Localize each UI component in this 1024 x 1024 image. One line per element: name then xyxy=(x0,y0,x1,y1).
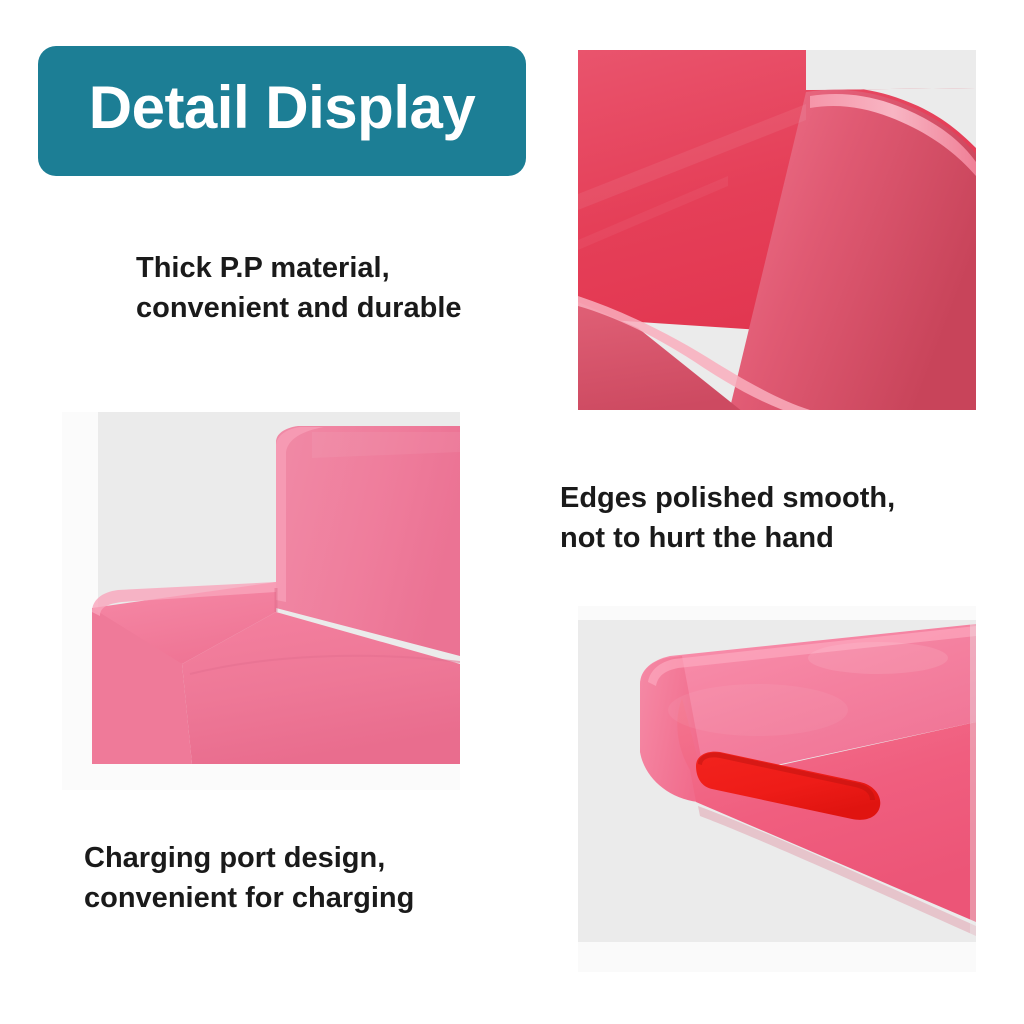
photo-box-side-profile xyxy=(62,412,460,790)
photo-box-interior-graphic xyxy=(578,44,976,416)
title-banner: Detail Display xyxy=(38,46,526,176)
caption-charging: Charging port design, convenient for cha… xyxy=(84,838,496,918)
caption-edges: Edges polished smooth, not to hurt the h… xyxy=(560,478,972,558)
photo-charging-port xyxy=(578,606,976,972)
page-title: Detail Display xyxy=(89,78,476,138)
photo-box-interior xyxy=(578,44,976,416)
caption-material: Thick P.P material, convenient and durab… xyxy=(136,248,536,328)
product-detail-page: Detail Display Thick P.P material, conve… xyxy=(0,0,1024,1024)
photo-box-side-profile-graphic xyxy=(62,412,460,790)
photo-charging-port-graphic xyxy=(578,606,976,972)
